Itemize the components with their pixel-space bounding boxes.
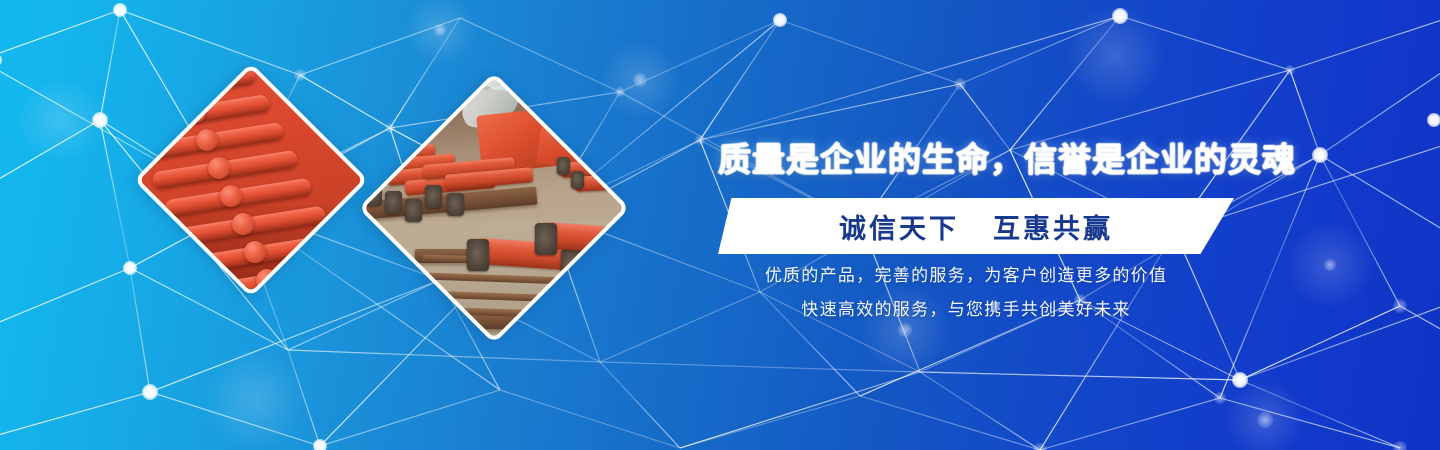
subtitle-line-1: 优质的产品，完善的服务，为客户创造更多的价值 — [708, 264, 1224, 288]
headline-text: 质量是企业的生命，信誉是企业的灵魂 — [718, 140, 1208, 180]
subtitle-line-2: 快速高效的服务，与您携手共创美好未来 — [708, 298, 1224, 322]
slogan-part-1: 诚信天下 — [839, 207, 959, 246]
hero-banner: 质量是企业的生命，信誉是企业的灵魂 诚信天下 互惠共赢 优质的产品，完善的服务，… — [0, 0, 1440, 450]
slogan-part-2: 互惠共赢 — [993, 207, 1113, 246]
slogan-text: 诚信天下 互惠共赢 — [718, 198, 1234, 254]
